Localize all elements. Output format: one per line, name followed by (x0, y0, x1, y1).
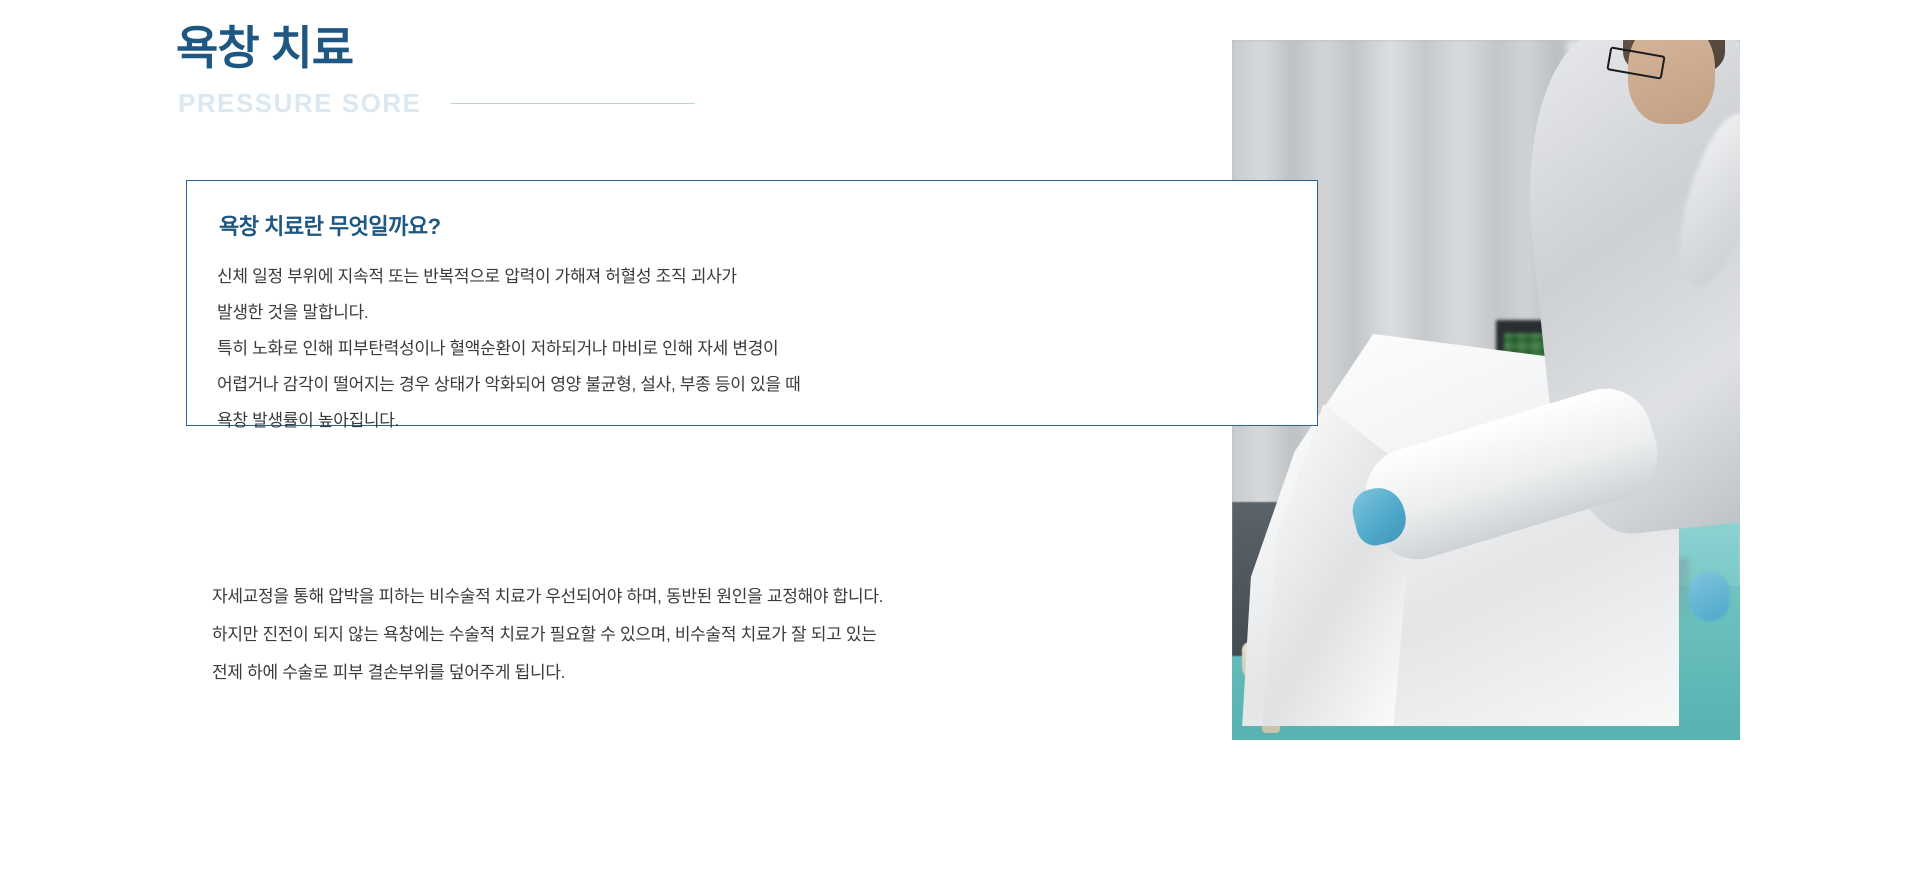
subtitle-row: PRESSURE SORE (178, 88, 695, 119)
page-title: 욕창 치료 (176, 22, 353, 75)
treatment-paragraph: 자세교정을 통해 압박을 피하는 비수술적 치료가 우선되어야 하며, 동반된 … (212, 578, 883, 692)
definition-line: 발생한 것을 말합니다. (217, 295, 1293, 331)
definition-box: 욕창 치료란 무엇일까요? 신체 일정 부위에 지속적 또는 반복적으로 압력이… (186, 180, 1318, 426)
page-subtitle: PRESSURE SORE (178, 88, 421, 119)
definition-line: 신체 일정 부위에 지속적 또는 반복적으로 압력이 가해져 허혈성 조직 괴사… (217, 259, 1293, 295)
treatment-line: 전제 하에 수술로 피부 결손부위를 덮어주게 됩니다. (212, 654, 883, 692)
definition-box-title: 욕창 치료란 무엇일까요? (219, 209, 441, 241)
definition-line: 욕창 발생률이 높아집니다. (217, 403, 1293, 439)
blue-glove-right (1689, 572, 1730, 621)
definition-line: 특히 노화로 인해 피부탄력성이나 혈액순환이 저하되거나 마비로 인해 자세 … (217, 331, 1293, 367)
definition-line: 어렵거나 감각이 떨어지는 경우 상태가 악화되어 영양 불균형, 설사, 부종… (217, 367, 1293, 403)
definition-box-body: 신체 일정 부위에 지속적 또는 반복적으로 압력이 가해져 허혈성 조직 괴사… (217, 259, 1293, 439)
subtitle-divider (451, 103, 695, 104)
pressure-sore-page: 욕창 치료 PRESSURE SORE 욕창 치료란 무엇일까요? 신체 일정 … (0, 0, 1920, 890)
uniform-crease (1664, 105, 1740, 296)
treatment-line: 자세교정을 통해 압박을 피하는 비수술적 치료가 우선되어야 하며, 동반된 … (212, 578, 883, 616)
treatment-line: 하지만 진전이 되지 않는 욕창에는 수술적 치료가 필요할 수 있으며, 비수… (212, 616, 883, 654)
